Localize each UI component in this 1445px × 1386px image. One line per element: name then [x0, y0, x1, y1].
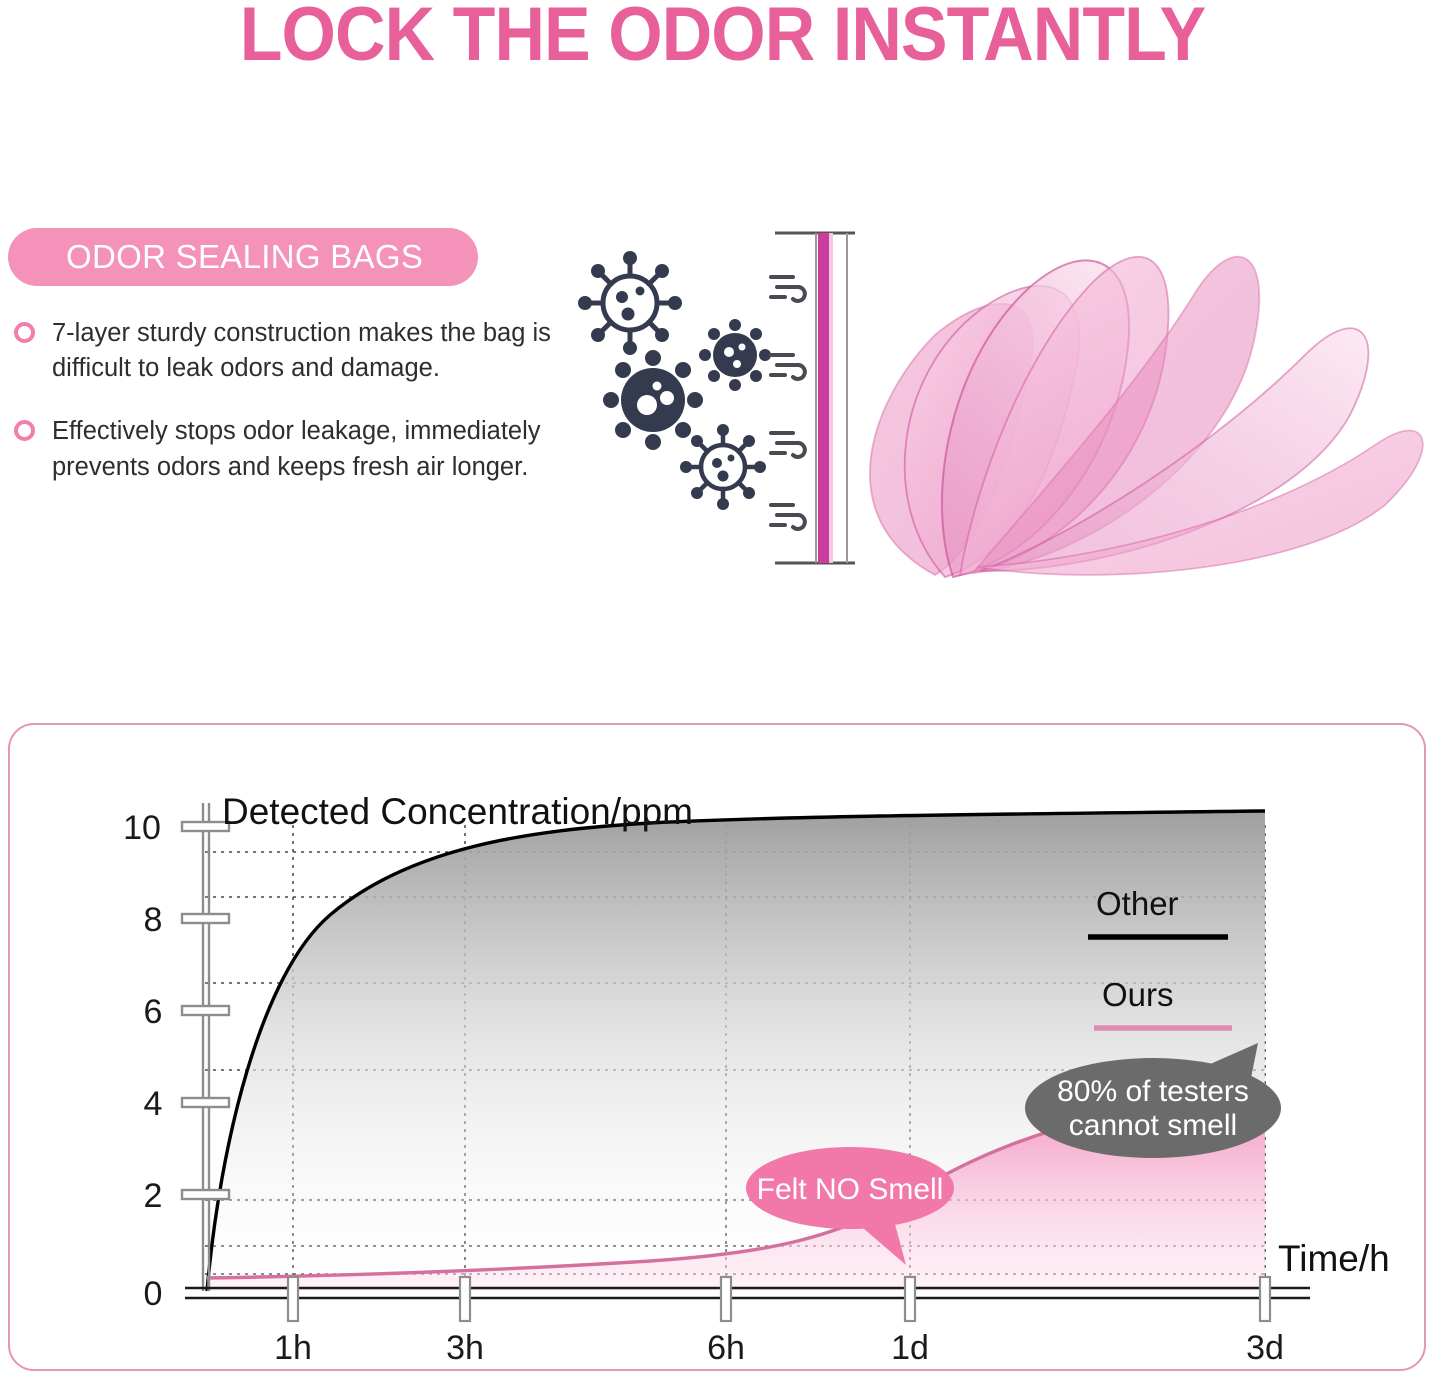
felt-no-smell-text: Felt NO Smell: [757, 1173, 944, 1206]
y-tick-label: 0: [144, 1275, 163, 1313]
x-tick-label: 1d: [891, 1329, 929, 1367]
germ-icon: [578, 251, 682, 355]
x-tick-label: 1h: [274, 1329, 312, 1367]
bullet-ring-icon: [14, 420, 35, 441]
page-headline: LOCK THE ODOR INSTANTLY: [58, 0, 1387, 76]
germ-icon: [699, 319, 771, 391]
list-item: Effectively stops odor leakage, immediat…: [10, 414, 570, 484]
x-tick-label: 6h: [707, 1329, 745, 1367]
testers-callout-line2: cannot smell: [1069, 1109, 1237, 1142]
legend-label-ours: Ours: [1102, 976, 1174, 1013]
germ-icon: [680, 424, 766, 510]
petal-fan-graphic: [870, 257, 1423, 577]
y-tick-label: 6: [144, 993, 163, 1031]
x-axis-label: Time/h: [1278, 1238, 1390, 1279]
odor-barrier-illustration: [575, 215, 1445, 615]
y-tick-label: 10: [123, 809, 161, 847]
y-tick-label: 8: [144, 901, 163, 939]
list-item: 7-layer sturdy construction makes the ba…: [10, 316, 570, 386]
x-tick-label: 3d: [1246, 1329, 1284, 1367]
y-tick-label: 4: [144, 1085, 163, 1123]
y-axis-label: Detected Concentration/ppm: [222, 791, 693, 832]
odor-concentration-chart: 10 8 6 4 2 0 Detected Concentration/ppm …: [10, 725, 1428, 1373]
y-tick-label: 2: [144, 1177, 163, 1215]
legend-label-other: Other: [1096, 885, 1179, 922]
chart-y-tick-labels: 10 8 6 4 2 0: [123, 809, 162, 1313]
testers-callout-line1: 80% of testers: [1057, 1075, 1249, 1108]
odor-sealing-bags-badge: ODOR SEALING BAGS: [8, 228, 478, 286]
feature-bullet-list: 7-layer sturdy construction makes the ba…: [10, 316, 570, 513]
bullet-text: 7-layer sturdy construction makes the ba…: [52, 319, 551, 382]
chart-x-tick-labels: 1h 3h 6h 1d 3d: [274, 1329, 1284, 1367]
x-tick-label: 3h: [446, 1329, 484, 1367]
germ-icon: [603, 350, 703, 450]
bullet-ring-icon: [14, 322, 35, 343]
airflow-icon: [771, 277, 805, 529]
comparison-chart-panel: 10 8 6 4 2 0 Detected Concentration/ppm …: [8, 723, 1426, 1371]
bullet-text: Effectively stops odor leakage, immediat…: [52, 417, 541, 480]
